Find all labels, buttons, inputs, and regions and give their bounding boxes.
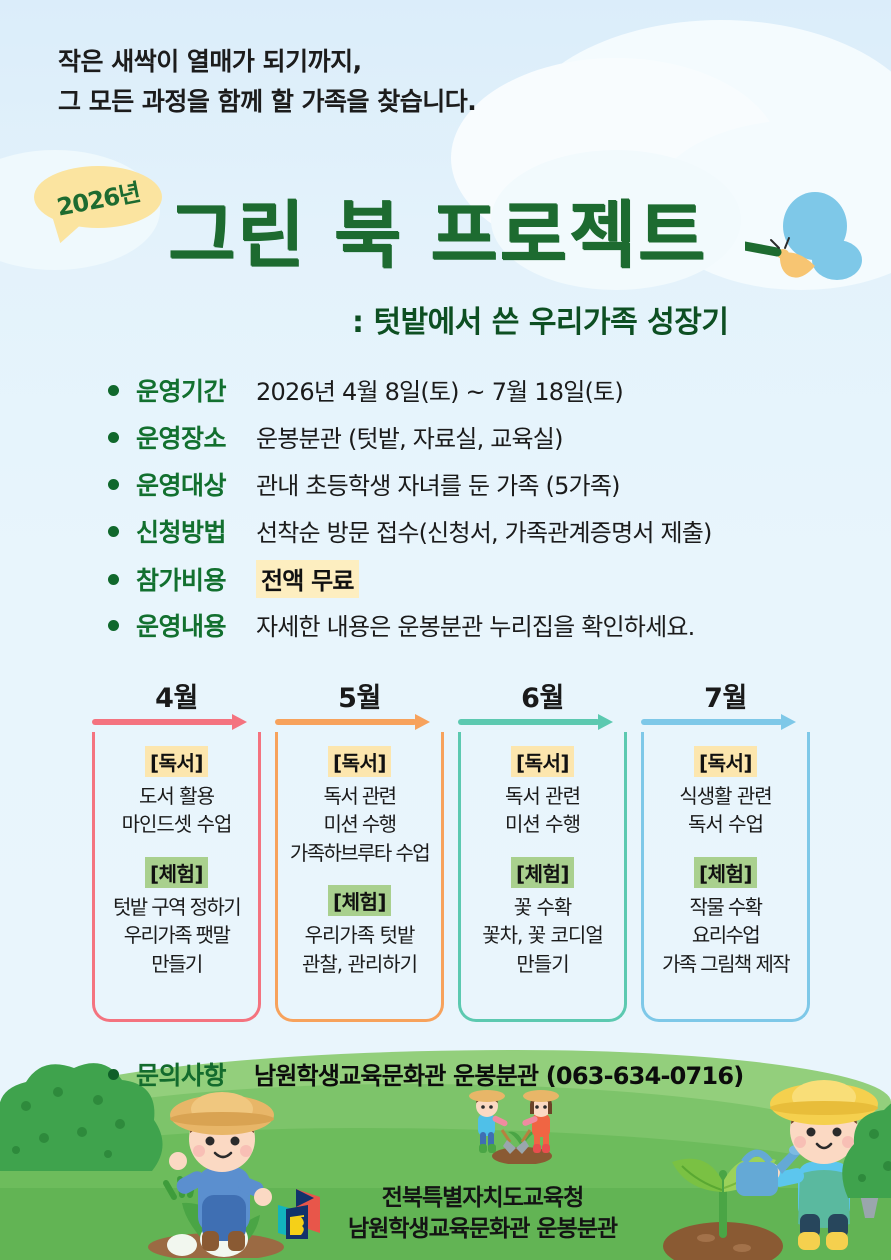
month-activity-box: [독서] 식생활 관련 독서 수업 [체험] 작물 수확 요리수업 가족 그림책… xyxy=(641,732,810,1022)
experience-tag: [체험] xyxy=(694,857,757,888)
info-list: 운영기간 2026년 4월 8일(토) ~ 7월 18일(토) 운영장소 운봉분… xyxy=(108,372,868,654)
contact-row: 문의사항 남원학생교육문화관 운봉분관 (063-634-0716) xyxy=(108,1056,743,1092)
month-label: 5월 xyxy=(275,676,444,710)
bullet-icon xyxy=(108,479,119,490)
butterfly-icon xyxy=(745,188,870,293)
info-value: 운봉분관 (텃밭, 자료실, 교육실) xyxy=(256,419,563,454)
month-label: 4월 xyxy=(92,676,261,710)
info-row: 운영장소 운봉분관 (텃밭, 자료실, 교육실) xyxy=(108,419,868,466)
bullet-icon xyxy=(108,385,119,396)
month-column-may: 5월 [독서] 독서 관련 미션 수행 가족하브루타 수업 [체험] 우리가족 … xyxy=(275,676,444,1022)
info-label: 운영대상 xyxy=(136,466,256,502)
experience-tag: [체험] xyxy=(328,885,391,916)
month-label: 7월 xyxy=(641,676,810,710)
info-label: 운영기간 xyxy=(136,372,256,408)
info-value-highlighted: 전액 무료 xyxy=(256,560,359,598)
experience-activities: 꽃 수확 꽃차, 꽃 코디얼 만들기 xyxy=(465,893,620,978)
poster-tagline: 작은 새싹이 열매가 되기까지, 그 모든 과정을 함께 할 가족을 찾습니다. xyxy=(58,42,476,121)
month-arrow-icon xyxy=(275,710,444,732)
info-label: 운영장소 xyxy=(136,419,256,455)
bullet-icon xyxy=(108,574,119,585)
reading-activities: 독서 관련 미션 수행 가족하브루타 수업 xyxy=(282,782,437,867)
info-label: 참가비용 xyxy=(136,561,256,597)
experience-activities: 텃밭 구역 정하기 우리가족 팻말 만들기 xyxy=(99,893,254,978)
reading-tag: [독서] xyxy=(511,746,574,777)
month-label: 6월 xyxy=(458,676,627,710)
reading-tag: [독서] xyxy=(328,746,391,777)
bush-icon xyxy=(840,1080,891,1200)
month-activity-box: [독서] 독서 관련 미션 수행 [체험] 꽃 수확 꽃차, 꽃 코디얼 만들기 xyxy=(458,732,627,1022)
year-badge: 2026년 xyxy=(34,166,162,228)
footer: 전북특별자치도교육청 남원학생교육문화관 운봉분관 xyxy=(0,1183,891,1244)
page-subtitle: : 텃밭에서 쓴 우리가족 성장기 xyxy=(352,297,728,341)
reading-activities: 도서 활용 마인드셋 수업 xyxy=(99,782,254,839)
footer-organization: 전북특별자치도교육청 남원학생교육문화관 운봉분관 xyxy=(348,1183,617,1244)
info-value: 자세한 내용은 운봉분관 누리집을 확인하세요. xyxy=(256,607,694,642)
year-badge-label: 2026년 xyxy=(53,172,142,222)
month-arrow-icon xyxy=(92,710,261,732)
info-row: 운영내용 자세한 내용은 운봉분관 누리집을 확인하세요. xyxy=(108,607,868,654)
month-arrow-icon xyxy=(641,710,810,732)
experience-tag: [체험] xyxy=(511,857,574,888)
info-row: 운영기간 2026년 4월 8일(토) ~ 7월 18일(토) xyxy=(108,372,868,419)
monthly-timeline: 4월 [독서] 도서 활용 마인드셋 수업 [체험] 텃밭 구역 정하기 우리가… xyxy=(92,676,812,1022)
bullet-icon xyxy=(108,1069,119,1080)
poster-root: 작은 새싹이 열매가 되기까지, 그 모든 과정을 함께 할 가족을 찾습니다.… xyxy=(0,0,891,1260)
contact-label: 문의사항 xyxy=(136,1056,254,1092)
reading-activities: 독서 관련 미션 수행 xyxy=(465,782,620,839)
education-office-logo-icon xyxy=(274,1185,330,1243)
info-row: 신청방법 선착순 방문 접수(신청서, 가족관계증명서 제출) xyxy=(108,513,868,560)
experience-activities: 작물 수확 요리수업 가족 그림책 제작 xyxy=(648,893,803,978)
month-arrow-icon xyxy=(458,710,627,732)
experience-activities: 우리가족 텃밭 관찰, 관리하기 xyxy=(282,921,437,978)
reading-tag: [독서] xyxy=(145,746,208,777)
contact-value: 남원학생교육문화관 운봉분관 (063-634-0716) xyxy=(254,1056,743,1091)
info-label: 신청방법 xyxy=(136,513,256,549)
month-activity-box: [독서] 독서 관련 미션 수행 가족하브루타 수업 [체험] 우리가족 텃밭 … xyxy=(275,732,444,1022)
info-value: 선착순 방문 접수(신청서, 가족관계증명서 제출) xyxy=(256,513,712,548)
info-row: 참가비용 전액 무료 xyxy=(108,560,868,607)
bullet-icon xyxy=(108,432,119,443)
reading-activities: 식생활 관련 독서 수업 xyxy=(648,782,803,839)
bullet-icon xyxy=(108,620,119,631)
page-title: 그린 북 프로젝트 xyxy=(168,176,707,282)
children-planting-illustration xyxy=(462,1086,582,1164)
info-label: 운영내용 xyxy=(136,607,256,643)
info-row: 운영대상 관내 초등학생 자녀를 둔 가족 (5가족) xyxy=(108,466,868,513)
experience-tag: [체험] xyxy=(145,857,208,888)
info-value: 관내 초등학생 자녀를 둔 가족 (5가족) xyxy=(256,466,620,501)
month-column-july: 7월 [독서] 식생활 관련 독서 수업 [체험] 작물 수확 요리수업 가족 … xyxy=(641,676,810,1022)
month-activity-box: [독서] 도서 활용 마인드셋 수업 [체험] 텃밭 구역 정하기 우리가족 팻… xyxy=(92,732,261,1022)
month-column-april: 4월 [독서] 도서 활용 마인드셋 수업 [체험] 텃밭 구역 정하기 우리가… xyxy=(92,676,261,1022)
month-column-june: 6월 [독서] 독서 관련 미션 수행 [체험] 꽃 수확 꽃차, 꽃 코디얼 … xyxy=(458,676,627,1022)
info-value: 2026년 4월 8일(토) ~ 7월 18일(토) xyxy=(256,372,623,407)
reading-tag: [독서] xyxy=(694,746,757,777)
bullet-icon xyxy=(108,526,119,537)
